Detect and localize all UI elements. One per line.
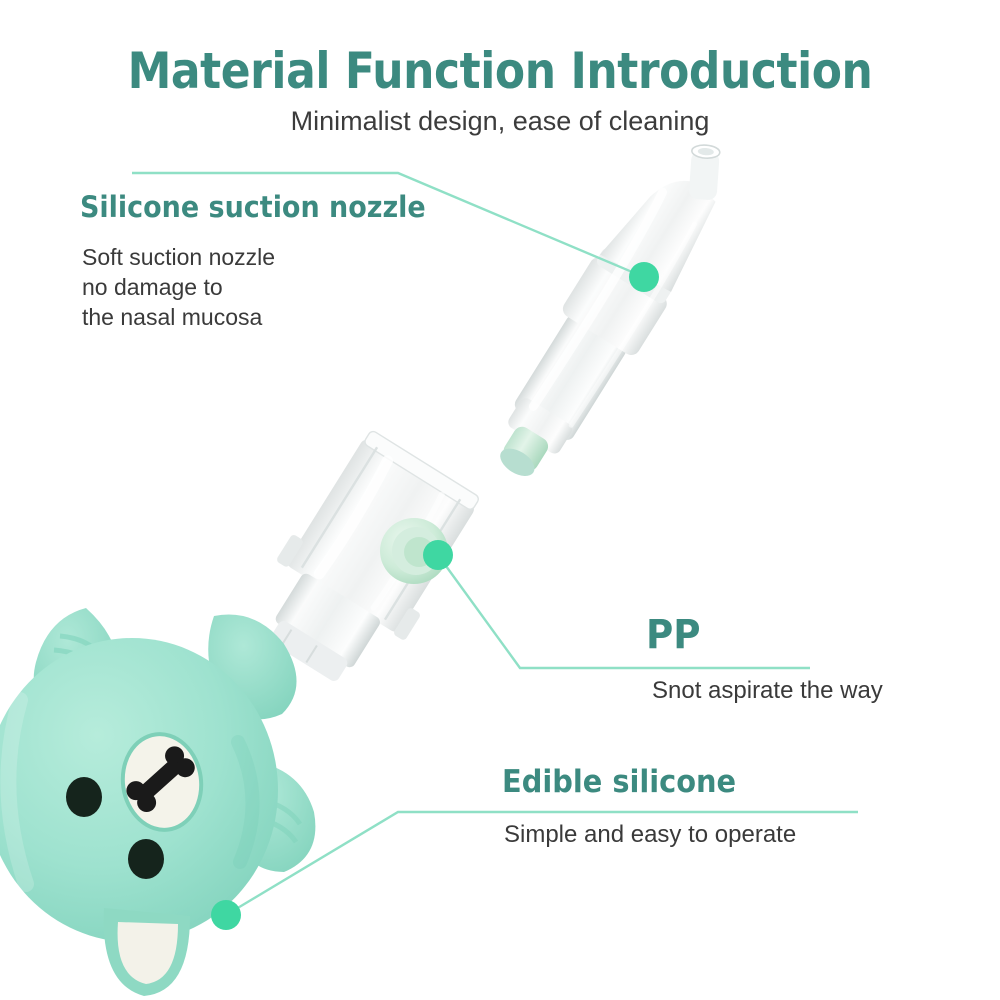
bear-body-part — [0, 608, 315, 996]
page-title: Material Function Introduction — [60, 42, 940, 100]
pp-valve-nub — [380, 518, 448, 584]
callout-body-silicone-suction-nozzle: Soft suction nozzle no damage to the nas… — [82, 242, 275, 332]
bear-eye-left — [66, 777, 102, 817]
callout-title-pp: PP — [646, 612, 701, 658]
callout-title-silicone-suction-nozzle: Silicone suction nozzle — [80, 190, 426, 224]
product-infographic: Material Function Introduction Minimalis… — [0, 0, 1000, 1000]
callout-body-edible-silicone: Simple and easy to operate — [504, 820, 796, 850]
product-illustration — [0, 0, 1000, 1000]
page-subtitle: Minimalist design, ease of cleaning — [0, 106, 1000, 137]
callout-title-edible-silicone: Edible silicone — [502, 764, 736, 800]
silicone-suction-nozzle-part — [474, 120, 754, 495]
bear-eye-right — [128, 839, 164, 879]
callout-body-pp: Snot aspirate the way — [652, 676, 883, 706]
